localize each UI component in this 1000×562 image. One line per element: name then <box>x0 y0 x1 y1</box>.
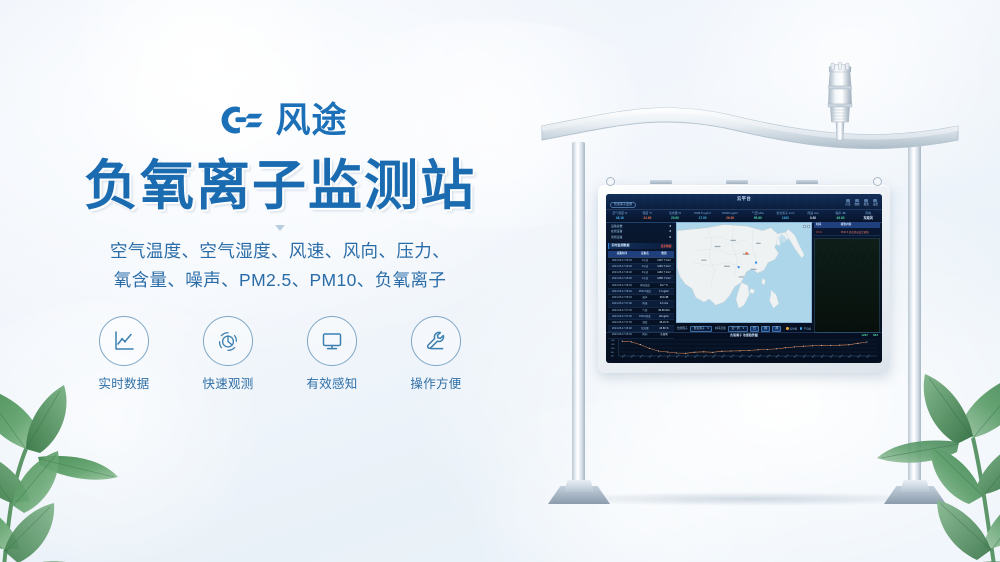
range-select-value: 近一周 <box>732 327 740 330</box>
metric-value: 1163 <box>772 216 800 220</box>
column-header: 报警内容 <box>841 223 851 226</box>
metric-card: PM10 ug/m³ 26.00 <box>716 212 744 221</box>
metric-card: 氧含量 % 20.80 <box>661 212 689 221</box>
decorative-leaves-left <box>0 353 196 562</box>
nav-item-settings[interactable]: 设置 <box>873 199 878 207</box>
decorative-leaves-right <box>833 342 1000 562</box>
svg-text:05-13: 05-13 <box>712 354 716 358</box>
svg-text:05-10: 05-10 <box>622 354 626 358</box>
stat-label: 在线设备 <box>611 230 623 234</box>
china-map[interactable] <box>676 222 812 323</box>
feature-label: 快速观测 <box>191 373 265 392</box>
feature-ring <box>307 316 357 366</box>
svg-text:05-15: 05-15 <box>748 354 752 358</box>
svg-text:1000: 1000 <box>611 348 615 350</box>
svg-text:800: 800 <box>611 352 614 354</box>
stat-label: 离线设备 <box>611 236 623 240</box>
feature-effective-sensing[interactable]: 有效感知 <box>295 316 369 392</box>
chart-kpi-min: 684 <box>873 334 878 338</box>
stat-value: 3 <box>669 230 671 234</box>
chart-legend: 实时值 平均值 <box>786 327 811 331</box>
metric-card: 温度 ℃ 24.60 <box>634 212 662 221</box>
support-pole-left <box>572 142 585 494</box>
svg-text:05-16: 05-16 <box>794 354 798 358</box>
page-title: 负氧离子监测站 <box>0 158 560 215</box>
metric-label: PM10 ug/m³ <box>716 212 744 216</box>
map-zoom-out-icon[interactable] <box>807 225 810 228</box>
screen-title: 云平台 <box>606 196 882 202</box>
fengtu-g-logo-icon <box>212 100 266 140</box>
metric-label: 温度 ℃ <box>634 212 662 216</box>
line-chart-icon <box>111 328 137 354</box>
filter-label-factor: 监测因子 <box>677 327 688 330</box>
alarm-icon <box>864 199 868 202</box>
center-column: 监测因子 负氧离子 ▾ 时间范围 近一周 ▾ 日 周 <box>676 222 812 333</box>
monitor-icon <box>319 328 345 354</box>
svg-text:05-15: 05-15 <box>758 354 762 358</box>
metric-value: 26.00 <box>716 216 744 220</box>
alert-message: PM2.5 浓度超出设定阈值 <box>841 231 869 234</box>
feature-ring <box>411 316 461 366</box>
promo-banner: 风途 负氧离子监测站 空气温度、空气湿度、风速、风向、压力、 氧含量、噪声、PM… <box>0 0 1000 562</box>
metric-value: 99.80 <box>744 216 772 220</box>
metric-card: PM2.5 ug/m³ 17.00 <box>689 212 717 221</box>
feature-ring <box>203 316 253 366</box>
metric-card: 噪声 dB 46.80 <box>827 212 855 221</box>
metric-value: 48.16 <box>606 216 634 220</box>
left-column: 设备总数 3 在线设备 3 离线设备 0 <box>608 222 674 333</box>
nav-item-home[interactable]: 首页 <box>845 199 850 207</box>
nav-label: 报警 <box>864 203 869 206</box>
metric-value: 24.60 <box>634 216 662 220</box>
metric-label: PM2.5 ug/m³ <box>689 212 717 216</box>
nav-label: 首页 <box>845 203 850 206</box>
realtime-data-table[interactable]: 采集时间 设备名 数值 2023-05-17 09:33 1号站 1297 个/… <box>608 251 674 338</box>
metric-value: 东南风 <box>854 216 882 220</box>
metric-label: 气压 kPa <box>744 212 772 216</box>
factor-select-value: 负氧离子 <box>694 327 705 330</box>
wave-canopy <box>538 100 962 164</box>
subtitle-line-2: 氧含量、噪声、PM2.5、PM10、负氧离子 <box>0 266 560 295</box>
metric-value: 20.80 <box>661 216 689 220</box>
stat-row: 离线设备 0 <box>611 235 671 240</box>
more-data-link[interactable]: 更多数据 <box>661 245 672 248</box>
nav-label: 设置 <box>873 203 878 206</box>
realtime-table-header: 实时监测数据 更多数据 <box>608 243 674 249</box>
svg-text:05-15: 05-15 <box>767 354 771 358</box>
dashboard-body: 设备总数 3 在线设备 3 离线设备 0 <box>606 222 882 333</box>
metric-label: 氧含量 % <box>661 212 689 216</box>
screen-logo-chip: 负氧离子监测 <box>610 202 636 209</box>
metric-card: 风速 m/s 0.30 <box>799 212 827 221</box>
base-cap-left <box>564 480 594 492</box>
data-icon <box>855 199 859 202</box>
radar-sensor-icon <box>215 328 241 354</box>
svg-text:05-11: 05-11 <box>658 354 662 358</box>
panel-title: 实时监测数据 <box>612 244 630 248</box>
stat-label: 设备总数 <box>611 225 623 229</box>
svg-text:05-17: 05-17 <box>803 354 807 358</box>
svg-text:05-14: 05-14 <box>739 354 743 358</box>
map-zoom-in-icon[interactable] <box>803 225 806 228</box>
alert-time: 09:21 <box>816 231 841 234</box>
metric-strip: 空气湿度 % 48.16 温度 ℃ 24.60 氧含量 % 20.80 PM2.… <box>606 209 882 223</box>
site-camera-feed[interactable] <box>814 238 880 333</box>
alert-table-header: 时间 报警内容 <box>814 222 880 228</box>
metric-value: 46.80 <box>827 216 855 220</box>
svg-text:05-17: 05-17 <box>812 354 816 358</box>
svg-text:05-13: 05-13 <box>694 354 698 358</box>
metric-label: 风向 <box>854 212 882 216</box>
legend-item-realtime: 实时值 <box>786 327 797 331</box>
metric-label: 负氧离子 /cm³ <box>772 212 800 216</box>
filter-label-range: 时间范围 <box>715 327 726 330</box>
chevron-down-icon: ▾ <box>743 327 744 330</box>
home-icon <box>846 199 850 202</box>
feature-label: 有效感知 <box>295 373 369 392</box>
feature-label: 操作方便 <box>399 373 473 392</box>
metric-card: 风向 东南风 <box>854 212 882 221</box>
legend-item-average: 平均值 <box>800 327 811 331</box>
metric-card: 气压 kPa 99.80 <box>744 212 772 221</box>
feature-easy-operation[interactable]: 操作方便 <box>399 316 473 392</box>
svg-text:05-14: 05-14 <box>730 354 734 358</box>
nav-label: 数据 <box>854 203 859 206</box>
feature-fast-observation[interactable]: 快速观测 <box>191 316 265 392</box>
alert-row[interactable]: 09:21 PM2.5 浓度超出设定阈值 <box>814 230 880 236</box>
map-controls[interactable] <box>803 225 810 228</box>
screen-nav[interactable]: 首页 数据 报警 设置 <box>845 199 878 207</box>
metric-value: 0.30 <box>799 216 827 220</box>
hanger-ring-right-icon <box>873 177 882 186</box>
mount-bracket <box>726 180 748 184</box>
nav-item-data[interactable]: 数据 <box>854 199 859 207</box>
metric-label: 空气湿度 % <box>606 212 634 216</box>
gear-icon <box>873 199 877 202</box>
marketing-text-pane: 风途 负氧离子监测站 空气温度、空气湿度、风速、风向、压力、 氧含量、噪声、PM… <box>0 96 560 392</box>
metric-card: 空气湿度 % 48.16 <box>606 212 634 221</box>
nav-item-alarm[interactable]: 报警 <box>864 199 869 207</box>
metric-label: 噪声 dB <box>827 212 855 216</box>
hanger-ring-left-icon <box>606 177 615 186</box>
chart-kpi-max: 1297 <box>861 334 868 338</box>
brand-name: 风途 <box>275 103 347 138</box>
svg-text:05-11: 05-11 <box>649 354 653 358</box>
svg-text:05-13: 05-13 <box>703 354 707 358</box>
mount-bracket <box>650 180 672 184</box>
svg-text:05-16: 05-16 <box>785 354 789 358</box>
svg-text:05-10: 05-10 <box>631 354 635 358</box>
chart-kpis: 1297 684 <box>861 334 878 338</box>
svg-text:05-12: 05-12 <box>685 354 689 358</box>
stat-value: 0 <box>669 236 671 240</box>
wrench-icon <box>423 328 449 354</box>
device-stats: 设备总数 3 在线设备 3 离线设备 0 <box>608 222 674 241</box>
stat-value: 3 <box>669 225 671 229</box>
dashboard-screen[interactable]: 云平台 负氧离子监测 首页 数据 报警 <box>606 194 882 363</box>
svg-text:05-17: 05-17 <box>821 354 825 358</box>
metric-value: 17.00 <box>689 216 717 220</box>
column-header: 时间 <box>816 223 841 226</box>
svg-text:1200: 1200 <box>611 344 615 346</box>
svg-text:05-14: 05-14 <box>721 354 725 358</box>
svg-text:05-11: 05-11 <box>640 354 644 358</box>
metric-card: 负氧离子 /cm³ 1163 <box>772 212 800 221</box>
svg-text:05-12: 05-12 <box>676 354 680 358</box>
svg-text:05-12: 05-12 <box>667 354 671 358</box>
chevron-down-icon: ▾ <box>708 327 709 330</box>
subtitle-line-1: 空气温度、空气湿度、风速、风向、压力、 <box>0 237 560 266</box>
svg-text:600: 600 <box>611 355 614 357</box>
mount-bracket <box>796 180 818 184</box>
caret-divider-icon <box>275 225 285 231</box>
metric-label: 风速 m/s <box>799 212 827 216</box>
ultrasonic-weather-sensor <box>820 60 860 146</box>
sensor-list-subtitle: 空气温度、空气湿度、风速、风向、压力、 氧含量、噪声、PM2.5、PM10、负氧… <box>0 237 560 295</box>
svg-text:1400: 1400 <box>611 340 615 342</box>
brand-lockup: 风途 <box>0 96 560 144</box>
right-column: 时间 报警内容 09:21 PM2.5 浓度超出设定阈值 <box>814 222 880 333</box>
svg-text:05-16: 05-16 <box>776 354 780 358</box>
